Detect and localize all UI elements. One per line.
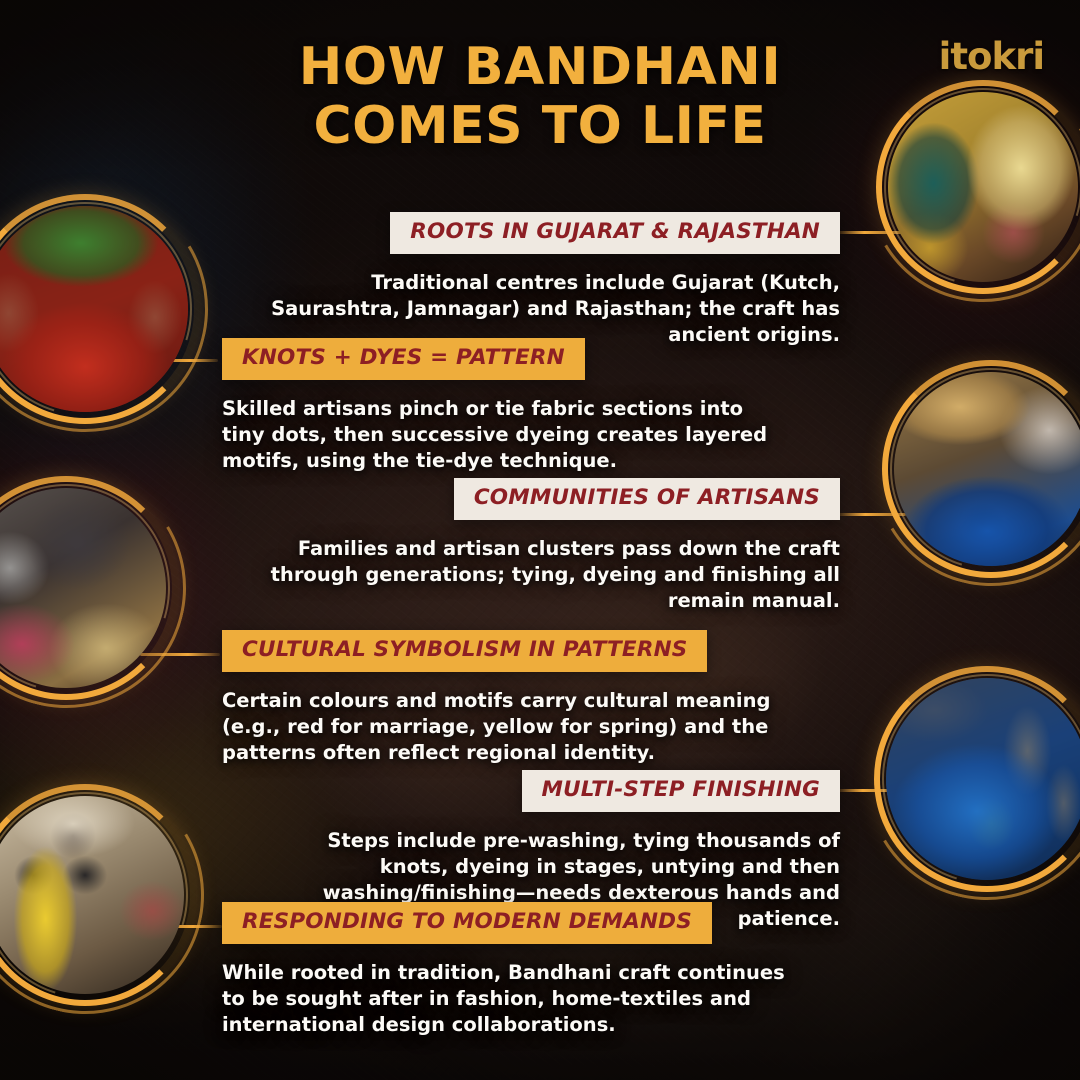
section-heading-wrap: ROOTS IN GUJARAT & RAJASTHAN — [260, 212, 840, 254]
section-heading-2[interactable]: KNOTS + DYES = PATTERN — [222, 338, 585, 380]
section-heading-4[interactable]: CULTURAL SYMBOLISM IN PATTERNS — [222, 630, 707, 672]
section-heading-wrap: KNOTS + DYES = PATTERN — [222, 338, 782, 380]
section-heading-wrap: MULTI-STEP FINISHING — [300, 770, 840, 812]
photo-artisan-dyeing-in-blue-vat — [894, 372, 1080, 566]
section-body-3: Families and artisan clusters pass down … — [230, 536, 840, 615]
section-cultural-symbolism-in-patterns: CULTURAL SYMBOLISM IN PATTERNS Certain c… — [222, 630, 787, 766]
section-responding-to-modern-demands: RESPONDING TO MODERN DEMANDS While roote… — [222, 902, 792, 1038]
section-body-2: Skilled artisans pinch or tie fabric sec… — [222, 396, 782, 475]
section-body-4: Certain colours and motifs carry cultura… — [222, 688, 787, 767]
section-body-1: Traditional centres include Gujarat (Kut… — [260, 270, 840, 349]
section-heading-1[interactable]: ROOTS IN GUJARAT & RAJASTHAN — [390, 212, 840, 254]
section-heading-wrap: RESPONDING TO MODERN DEMANDS — [222, 902, 792, 944]
section-heading-5[interactable]: MULTI-STEP FINISHING — [522, 770, 840, 812]
photo-fabric-dipped-in-blue-dye-vat — [886, 678, 1080, 880]
section-knots-dyes-pattern: KNOTS + DYES = PATTERN Skilled artisans … — [222, 338, 782, 474]
section-communities-of-artisans: COMMUNITIES OF ARTISANS Families and art… — [230, 478, 840, 614]
section-heading-3[interactable]: COMMUNITIES OF ARTISANS — [454, 478, 840, 520]
section-heading-wrap: COMMUNITIES OF ARTISANS — [230, 478, 840, 520]
section-roots-in-gujarat-rajasthan: ROOTS IN GUJARAT & RAJASTHAN Traditional… — [260, 212, 840, 348]
photo-hands-tying-red-fabric-knots — [0, 206, 188, 412]
photo-woman-sorting-tied-fabric — [0, 488, 166, 688]
photo-artisan-lifting-yellow-dyed-fabric — [0, 796, 184, 994]
itokri-brand-logo[interactable]: itokri — [939, 38, 1044, 75]
section-heading-wrap: CULTURAL SYMBOLISM IN PATTERNS — [222, 630, 787, 672]
section-body-6: While rooted in tradition, Bandhani craf… — [222, 960, 792, 1039]
photo-two-women-tying-bandhani — [888, 92, 1078, 282]
section-heading-6[interactable]: RESPONDING TO MODERN DEMANDS — [222, 902, 712, 944]
bandhani-infographic-poster: itokri HOW BANDHANI COMES TO LIFE — [0, 0, 1080, 1080]
